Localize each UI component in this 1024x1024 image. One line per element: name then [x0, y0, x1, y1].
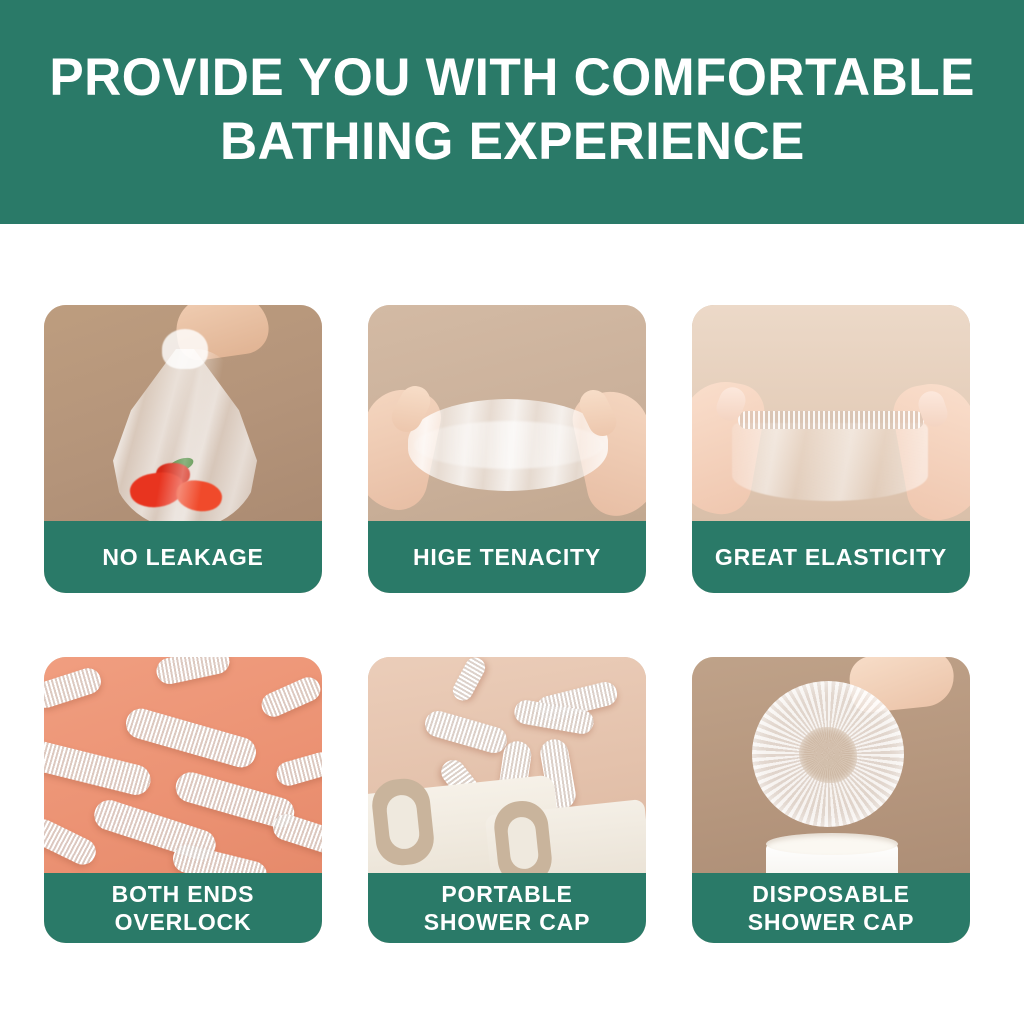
shower-cap-icon — [422, 708, 510, 756]
bag-knot-icon — [162, 329, 208, 369]
card-label-text: HIGE TENACITY — [413, 543, 601, 571]
photo-disposable-shower-cap — [692, 657, 970, 873]
card-label-text: GREAT ELASTICITY — [715, 543, 947, 571]
shower-cap-icon — [44, 815, 100, 869]
shower-cap-opening — [799, 727, 857, 783]
card-label-both-ends-overlock: BOTH ENDS OVERLOCK — [44, 873, 322, 943]
shower-cap-icon — [270, 811, 322, 857]
photo-great-elasticity — [692, 305, 970, 521]
shower-cap-icon — [122, 705, 259, 771]
photo-both-ends-overlock — [44, 657, 322, 873]
card-label-portable-shower-cap: PORTABLE SHOWER CAP — [368, 873, 646, 943]
shower-cap-icon — [449, 657, 488, 704]
header-banner: PROVIDE YOU WITH COMFORTABLE BATHING EXP… — [0, 0, 1024, 224]
feature-card-portable-shower-cap[interactable]: PORTABLE SHOWER CAP — [368, 657, 646, 943]
card-label-no-leakage: NO LEAKAGE — [44, 521, 322, 593]
bowl-rim — [766, 833, 898, 855]
feature-card-grid: NO LEAKAGE HIGE TENACITY GREAT ELASTICIT… — [0, 224, 1024, 943]
banner-title-line-2: BATHING EXPERIENCE — [220, 110, 805, 174]
card-label-hige-tenacity: HIGE TENACITY — [368, 521, 646, 593]
feature-card-both-ends-overlock[interactable]: BOTH ENDS OVERLOCK — [44, 657, 322, 943]
feature-card-great-elasticity[interactable]: GREAT ELASTICITY — [692, 305, 970, 593]
elastic-band-icon — [738, 411, 924, 429]
plastic-film-highlight — [414, 421, 604, 469]
card-label-text: NO LEAKAGE — [102, 543, 263, 571]
photo-hige-tenacity — [368, 305, 646, 521]
shower-cap-icon — [170, 842, 270, 873]
card-label-disposable-shower-cap: DISPOSABLE SHOWER CAP — [692, 873, 970, 943]
shower-cap-icon — [274, 749, 322, 788]
card-label-great-elasticity: GREAT ELASTICITY — [692, 521, 970, 593]
banner-title-line-1: PROVIDE YOU WITH COMFORTABLE — [49, 46, 975, 110]
feature-card-no-leakage[interactable]: NO LEAKAGE — [44, 305, 322, 593]
card-label-text-line-2: OVERLOCK — [112, 908, 255, 936]
shower-cap-icon — [44, 738, 154, 798]
shower-cap-icon — [44, 665, 104, 711]
photo-portable-shower-cap — [368, 657, 646, 873]
bag-gloss-overlay — [110, 349, 260, 521]
card-label-text-line-1: PORTABLE — [424, 880, 590, 908]
feature-card-hige-tenacity[interactable]: HIGE TENACITY — [368, 305, 646, 593]
plastic-film-icon — [732, 423, 928, 501]
card-label-text-line-2: SHOWER CAP — [748, 908, 914, 936]
card-label-text-line-1: DISPOSABLE — [748, 880, 914, 908]
card-label-text-line-2: SHOWER CAP — [424, 908, 590, 936]
card-label-text-line-1: BOTH ENDS — [112, 880, 255, 908]
photo-no-leakage — [44, 305, 322, 521]
shower-cap-icon — [258, 673, 322, 720]
shower-cap-icon — [154, 657, 232, 686]
feature-card-disposable-shower-cap[interactable]: DISPOSABLE SHOWER CAP — [692, 657, 970, 943]
